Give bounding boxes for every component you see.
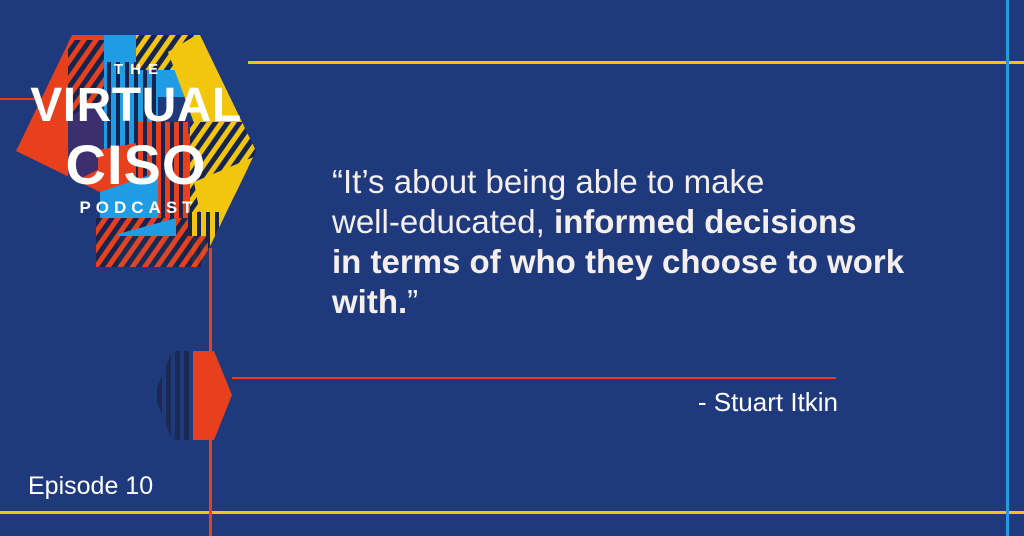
- quote-line-3: in terms of who they choose to work: [332, 242, 964, 282]
- quote-line-2: well-educated, informed decisions: [332, 202, 964, 242]
- yellow-rule-top: [248, 61, 1024, 64]
- quote-closing-quote: ”: [407, 283, 418, 320]
- red-rule-attribution: [232, 377, 836, 379]
- quote-line-2-bold: informed decisions: [554, 203, 857, 240]
- virtual-ciso-podcast-logo-icon: [8, 22, 264, 280]
- episode-label: Episode 10: [28, 472, 153, 501]
- attribution-speaker: - Stuart Itkin: [0, 387, 838, 418]
- quote-line-3-bold: in terms of who they choose to work: [332, 243, 904, 280]
- quote-line-4-bold: with.: [332, 283, 407, 320]
- quote-line-1-text: “It’s about being able to make: [332, 163, 764, 200]
- quote-line-2-plain: well-educated,: [332, 203, 554, 240]
- blue-vertical-rule: [1006, 0, 1009, 536]
- quote-line-1: “It’s about being able to make: [332, 162, 964, 202]
- quote-line-4: with.”: [332, 282, 964, 322]
- podcast-quote-card: THE VIRTUAL CISO PODCAST “It’s a: [0, 0, 1024, 536]
- yellow-rule-bottom: [0, 511, 1024, 514]
- quote-text: “It’s about being able to make well-educ…: [332, 162, 964, 322]
